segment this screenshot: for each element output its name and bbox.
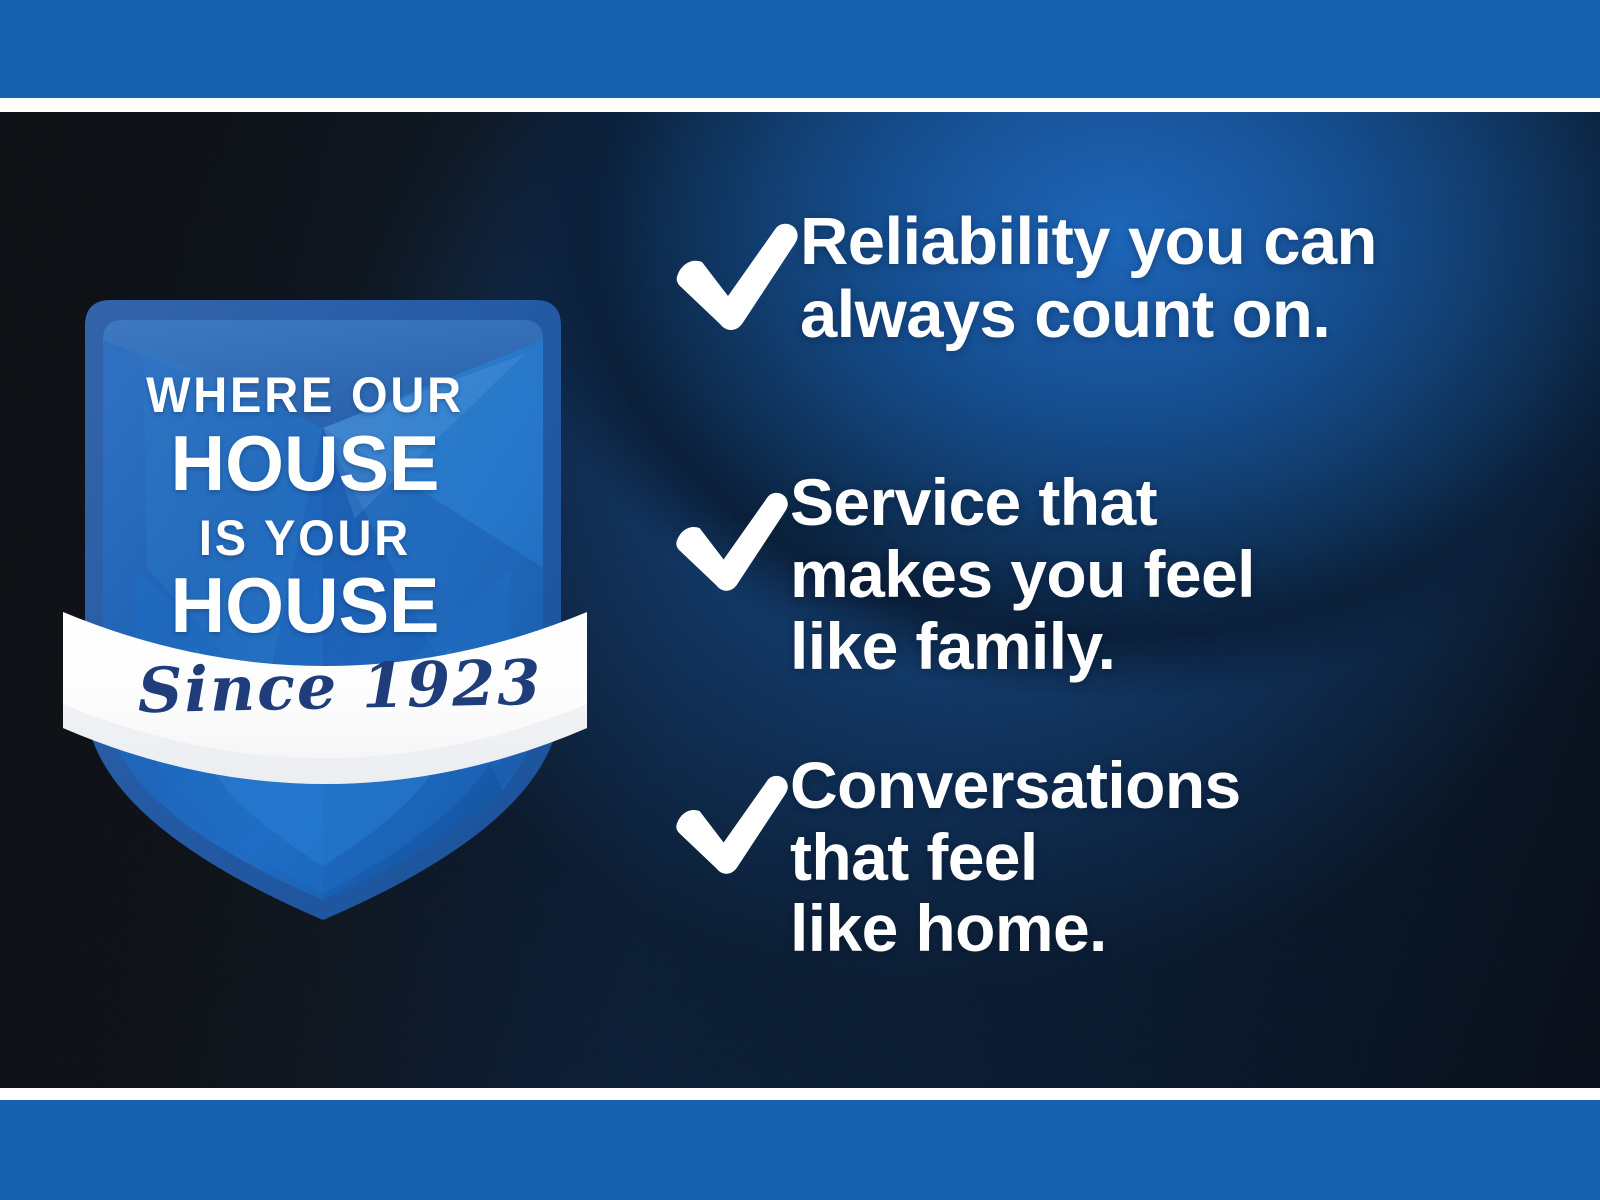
emblem-line-1: WHERE OUR bbox=[70, 370, 540, 420]
brand-emblem: WHERE OUR HOUSE IS YOUR HOUSE Since 1923 bbox=[55, 268, 625, 928]
benefit-item: Reliability you can always count on. bbox=[672, 206, 1502, 351]
benefit-item: Conversations that feel like home. bbox=[672, 750, 1502, 965]
benefit-text: Conversations that feel like home. bbox=[790, 750, 1502, 965]
benefit-text: Service that makes you feel like family. bbox=[790, 467, 1502, 682]
emblem-line-2: HOUSE bbox=[63, 424, 548, 502]
checkmark-icon bbox=[672, 220, 800, 332]
checkmark-icon bbox=[672, 768, 790, 880]
emblem-line-4: HOUSE bbox=[63, 566, 548, 644]
emblem-line-3: IS YOUR bbox=[70, 513, 540, 563]
benefits-list: Reliability you can always count on. Ser… bbox=[672, 206, 1502, 965]
bottom-brand-bar bbox=[0, 1100, 1600, 1200]
checkmark-icon bbox=[672, 485, 790, 597]
benefit-item: Service that makes you feel like family. bbox=[672, 467, 1502, 682]
promo-graphic-canvas: WHERE OUR HOUSE IS YOUR HOUSE Since 1923… bbox=[0, 0, 1600, 1200]
top-brand-bar bbox=[0, 0, 1600, 98]
benefit-text: Reliability you can always count on. bbox=[800, 206, 1502, 351]
emblem-since-ribbon-text: Since 1923 bbox=[94, 651, 585, 723]
